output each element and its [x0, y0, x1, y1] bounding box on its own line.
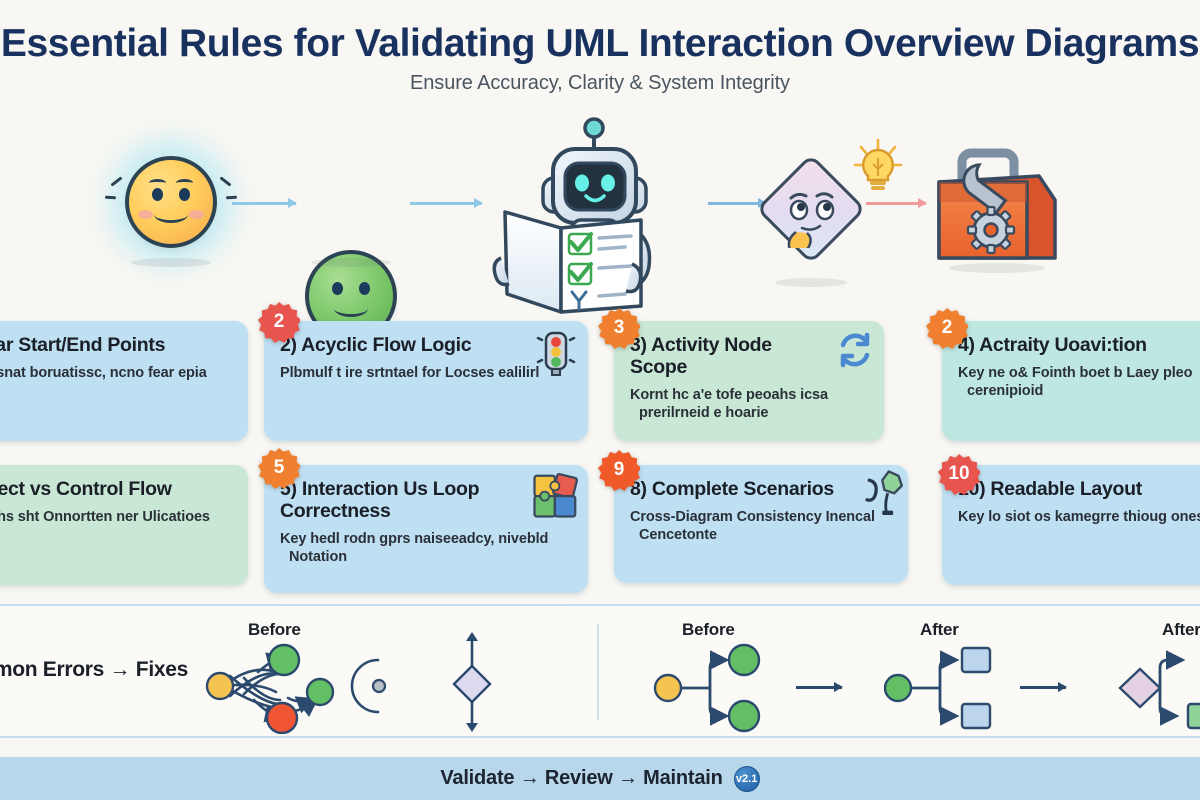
robot-with-checklist-icon — [487, 116, 702, 316]
page-title: Essential Rules for Validating UML Inter… — [0, 22, 1200, 66]
rule-card-8[interactable]: 10) Readable Layout Key lo siot os kameg… — [942, 465, 1200, 585]
rule-card-6[interactable]: 5) Interaction Us Loop Correctness Key h… — [264, 465, 588, 593]
rule-card-3-body: Kornt hc a'e tofe peoahs icsa prerilrnei… — [630, 386, 868, 423]
rule-badge-3: 3 — [598, 307, 640, 349]
rule-card-5[interactable]: 4) Object vs Control Flow yollrt & hs sh… — [0, 465, 248, 585]
rule-badge-6: 5 — [258, 447, 300, 489]
tangled-graph-before-icon — [196, 638, 396, 734]
refresh-cycle-icon — [832, 327, 878, 373]
strip-arrow-2 — [1020, 686, 1066, 689]
before-after-strip: Common Errors → Fixes Before — [0, 604, 1200, 738]
lightbulb-icon — [852, 138, 904, 194]
strip-caption-3: After — [920, 620, 959, 640]
rule-card-8-title: 10) Readable Layout — [958, 479, 1200, 501]
hero-arrow-3 — [708, 202, 766, 205]
balloon-node-icon — [854, 465, 904, 515]
hero-arrow-1 — [232, 202, 296, 205]
vertical-decision-icon — [432, 630, 512, 734]
yellow-face-shadow — [131, 258, 211, 267]
header: Essential Rules for Validating UML Inter… — [0, 0, 1200, 108]
thinking-face-features — [772, 170, 850, 248]
rule-card-3[interactable]: 3) Activity Node Scope Kornt hc a'e tofe… — [614, 321, 884, 441]
hero-arrow-2 — [410, 202, 482, 205]
footer-bar: Validate → Review → Maintain v2.1 — [0, 757, 1200, 800]
rule-card-4-body: Key ne o& Fointh boet b Laey pleo cereni… — [958, 364, 1200, 401]
rule-card-1-body: tent dri snat boruatissc, ncno fear epia… — [0, 364, 232, 401]
rule-card-2[interactable]: 2) Acyclic Flow Logic Plbmulf t ire srtn… — [264, 321, 588, 441]
rule-card-7-title: 8) Complete Scenarios — [630, 479, 892, 501]
rule-card-2-title: 2) Acyclic Flow Logic — [280, 335, 572, 357]
strip-label: Common Errors → Fixes — [0, 658, 188, 682]
infographic-page: Essential Rules for Validating UML Inter… — [0, 0, 1200, 800]
strip-caption-4: After — [1162, 620, 1200, 640]
rule-badge-3-number: 3 — [614, 317, 625, 339]
diamond-shadow — [775, 278, 847, 287]
toolbox-icon — [915, 146, 1067, 274]
rules-card-grid: 1) Clear Start/End Points tent dri snat … — [0, 313, 1200, 600]
rule-card-1-title: 1) Clear Start/End Points — [0, 335, 232, 357]
green-face-shadow — [311, 258, 391, 267]
rule-card-5-title: 4) Object vs Control Flow — [0, 479, 232, 501]
hero-illustration-row — [0, 108, 1200, 313]
strip-caption-1: Before — [248, 620, 301, 640]
rule-badge-7-number: 9 — [614, 459, 625, 481]
strip-arrow-1 — [796, 686, 842, 689]
rule-card-7-body: Cross-Diagram Consistency Inencal Cencet… — [630, 508, 892, 545]
rule-badge-8: 10 — [938, 453, 980, 495]
rule-card-1[interactable]: 1) Clear Start/End Points tent dri snat … — [0, 321, 248, 441]
footer-text: Validate → Review → Maintain — [440, 767, 722, 790]
version-badge: v2.1 — [734, 766, 760, 792]
rule-badge-4-number: 2 — [942, 317, 953, 339]
rule-badge-8-number: 10 — [948, 463, 969, 485]
rule-card-4-title: 4) Actraity Uoavi:tion — [958, 335, 1200, 357]
yellow-smiley-face-icon — [125, 156, 217, 248]
rule-card-4[interactable]: 4) Actraity Uoavi:tion Key ne o& Fointh … — [942, 321, 1200, 441]
rule-card-6-title: 5) Interaction Us Loop Correctness — [280, 479, 572, 523]
puzzle-piece-icon — [530, 469, 582, 521]
rule-badge-2-number: 2 — [274, 311, 285, 333]
rule-card-5-body: yollrt & hs sht Onnortten ner Ulicatioes — [0, 508, 232, 527]
rule-badge-6-number: 5 — [274, 457, 285, 479]
traffic-light-icon — [533, 330, 579, 376]
rule-card-8-body: Key lo siot os kamegrre thioug onesthbnc… — [958, 508, 1200, 527]
branch-graph-before-icon — [648, 642, 778, 734]
rule-badge-4: 2 — [926, 307, 968, 349]
strip-caption-2: Before — [682, 620, 735, 640]
page-subtitle: Ensure Accuracy, Clarity & System Integr… — [0, 72, 1200, 95]
rule-badge-2: 2 — [258, 301, 300, 343]
rule-card-6-body: Key hedl rodn gprs naiseeadcy, nivebld N… — [280, 530, 572, 567]
rule-card-2-body: Plbmulf t ire srtntael for Locses ealili… — [280, 364, 572, 383]
rule-badge-7: 9 — [598, 449, 640, 491]
strip-divider — [597, 624, 599, 720]
decision-flow-after-icon — [1098, 642, 1200, 734]
clean-flow-after-icon — [878, 642, 1008, 734]
rule-card-7[interactable]: 8) Complete Scenarios Cross-Diagram Cons… — [614, 465, 908, 583]
